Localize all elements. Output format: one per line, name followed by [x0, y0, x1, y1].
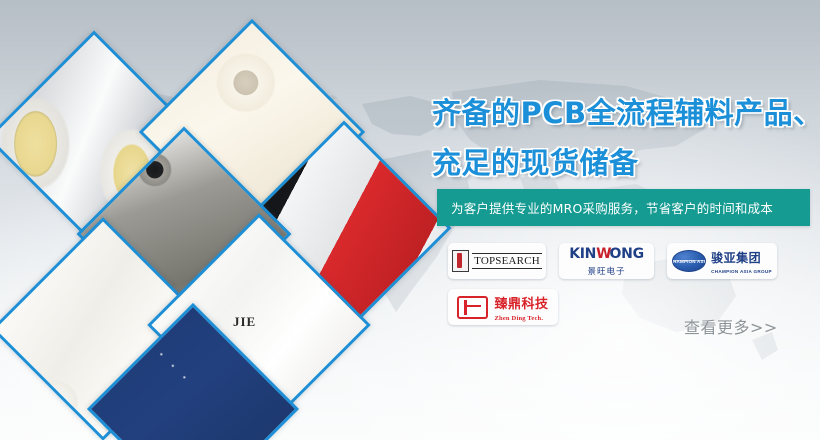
client-logo-champion-asia[interactable]: CHAMPION ASIA 骏亚集团 CHAMPION ASIA GROUP — [667, 243, 777, 279]
kinwong-logo-text: KINWONG — [569, 246, 644, 262]
client-logo-zhen-ding[interactable]: 臻鼎科技 Zhen Ding Tech. — [448, 289, 558, 325]
topsearch-logo-text: TOPSEARCH — [472, 253, 542, 269]
client-logo-row-1: TOPSEARCH KINWONG 景旺电子 CHAMPION ASIA 骏亚集… — [448, 243, 818, 279]
headline-line-2: 充足的现货储备 — [432, 138, 818, 188]
zhending-monogram-icon — [457, 296, 488, 319]
globe-icon: CHAMPION ASIA — [672, 250, 706, 272]
client-logo-topsearch[interactable]: TOPSEARCH — [448, 243, 546, 279]
kinwong-logo-subtext: 景旺电子 — [569, 265, 644, 277]
champion-logo-text-en: CHAMPION ASIA GROUP — [711, 269, 772, 274]
banner-subtitle-bar: 为客户提供专业的MRO采购服务，节省客户的时间和成本 — [437, 189, 810, 226]
zhending-logo-text-cn: 臻鼎科技 — [494, 293, 548, 312]
kinwong-text-a: KIN — [569, 246, 596, 262]
product-collage: JIE — [0, 0, 420, 440]
kinwong-text-b: ONG — [610, 246, 644, 262]
collage-film-label: JIE — [233, 314, 256, 330]
banner-subtitle-text: 为客户提供专业的MRO采购服务，节省客户的时间和成本 — [437, 198, 773, 217]
zhending-logo-text-en: Zhen Ding Tech. — [494, 315, 548, 322]
champion-logo-text-cn: 骏亚集团 — [711, 249, 772, 266]
banner-headline: 齐备的PCB全流程辅料产品、 充足的现货储备 — [432, 88, 818, 188]
headline-line-1: 齐备的PCB全流程辅料产品、 — [432, 96, 820, 130]
champion-globe-text: CHAMPION ASIA — [672, 259, 706, 264]
view-more-link[interactable]: 查看更多>> — [684, 314, 778, 338]
kinwong-text-w: W — [596, 246, 609, 262]
hero-banner: JIE 齐备的PCB全流程辅料产品、 充足的现货储备 为客户提供专业的MRO采购… — [0, 0, 820, 440]
topsearch-monogram-icon — [452, 250, 469, 272]
client-logo-kinwong[interactable]: KINWONG 景旺电子 — [559, 243, 654, 279]
